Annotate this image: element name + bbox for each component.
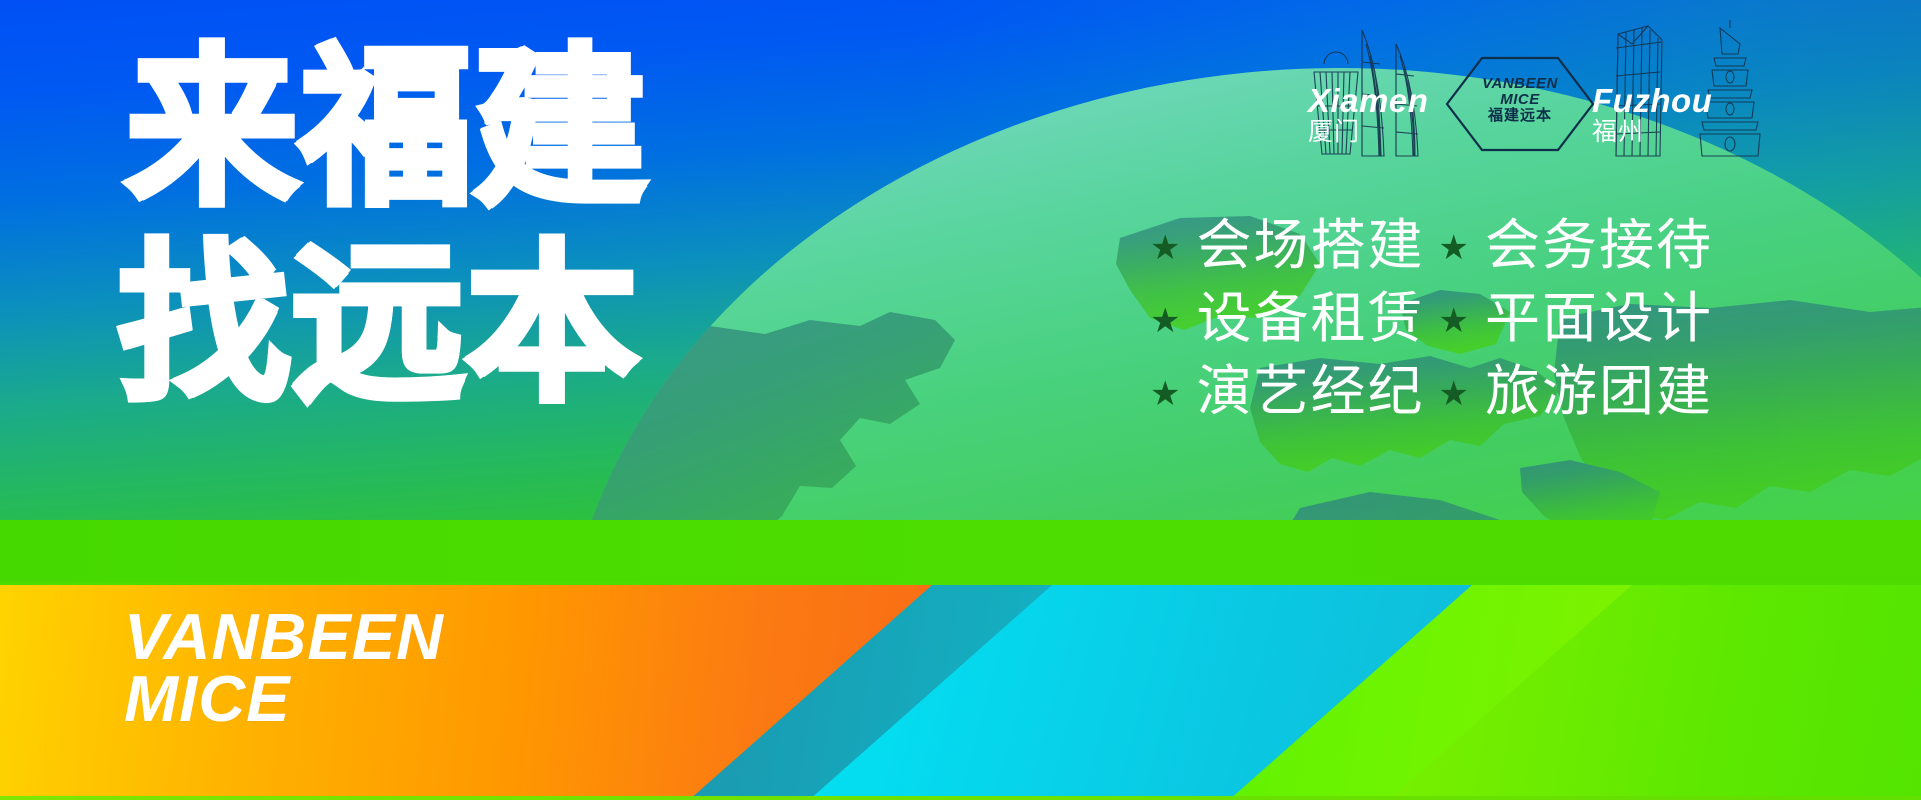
service-label: 旅游团建 [1485, 358, 1713, 425]
city-name-en: Xiamen [1308, 84, 1428, 118]
logo-en-line-2: MICE [1445, 92, 1595, 108]
city-name-cn: 厦门 [1308, 118, 1428, 146]
service-item: ★ 会务接待 [1439, 212, 1714, 279]
service-label: 会务接待 [1485, 212, 1713, 279]
city-label-fuzhou: Fuzhou 福州 [1592, 84, 1712, 146]
hexagon-logo-text: VANBEEN MICE 福建远本 [1445, 76, 1595, 126]
logo-en-line-1: VANBEEN [1445, 76, 1595, 92]
vanbeen-hexagon-logo: VANBEEN MICE 福建远本 [1445, 56, 1595, 152]
service-label: 设备租赁 [1196, 285, 1424, 352]
ribbon-bottom-edge [0, 796, 1921, 800]
service-item: ★ 会场搭建 [1150, 212, 1425, 279]
city-label-xiamen: Xiamen 厦门 [1308, 84, 1428, 146]
services-list: ★ 会场搭建 ★ 会务接待 ★ 设备租赁 ★ 平面设计 ★ 演艺经纪 ★ 旅游团… [1150, 212, 1713, 425]
service-item: ★ 平面设计 [1439, 285, 1714, 352]
service-label: 演艺经纪 [1196, 358, 1424, 425]
star-icon: ★ [1150, 304, 1180, 338]
star-icon: ★ [1439, 231, 1469, 265]
star-icon: ★ [1439, 377, 1469, 411]
brand-wordmark: VANBEEN MICE [124, 606, 444, 731]
star-icon: ★ [1150, 377, 1180, 411]
brand-line-2: MICE [124, 668, 444, 730]
star-icon: ★ [1439, 304, 1469, 338]
service-item: ★ 设备租赁 [1150, 285, 1425, 352]
city-name-cn: 福州 [1592, 118, 1712, 146]
ribbon-top-edge [0, 582, 1921, 585]
service-item: ★ 旅游团建 [1439, 358, 1714, 425]
service-item: ★ 演艺经纪 [1150, 358, 1425, 425]
headline-line-1: 来福建 [126, 38, 648, 220]
logo-cn: 福建远本 [1445, 107, 1595, 126]
city-name-en: Fuzhou [1592, 84, 1712, 118]
star-icon: ★ [1150, 231, 1180, 265]
bottom-green-strip [0, 520, 1921, 586]
page-title: 来福建 找远本 [126, 38, 648, 417]
service-label: 平面设计 [1485, 285, 1713, 352]
service-label: 会场搭建 [1196, 212, 1424, 279]
city-logo-strip: VANBEEN MICE 福建远本 Xiamen 厦门 Fuzhou 福州 [1300, 8, 1920, 168]
promotional-banner: 来福建 找远本 ★ 会场搭建 ★ 会务接待 ★ 设备租赁 ★ 平面设计 ★ 演艺… [0, 0, 1921, 800]
headline-line-2: 找远本 [118, 234, 648, 416]
